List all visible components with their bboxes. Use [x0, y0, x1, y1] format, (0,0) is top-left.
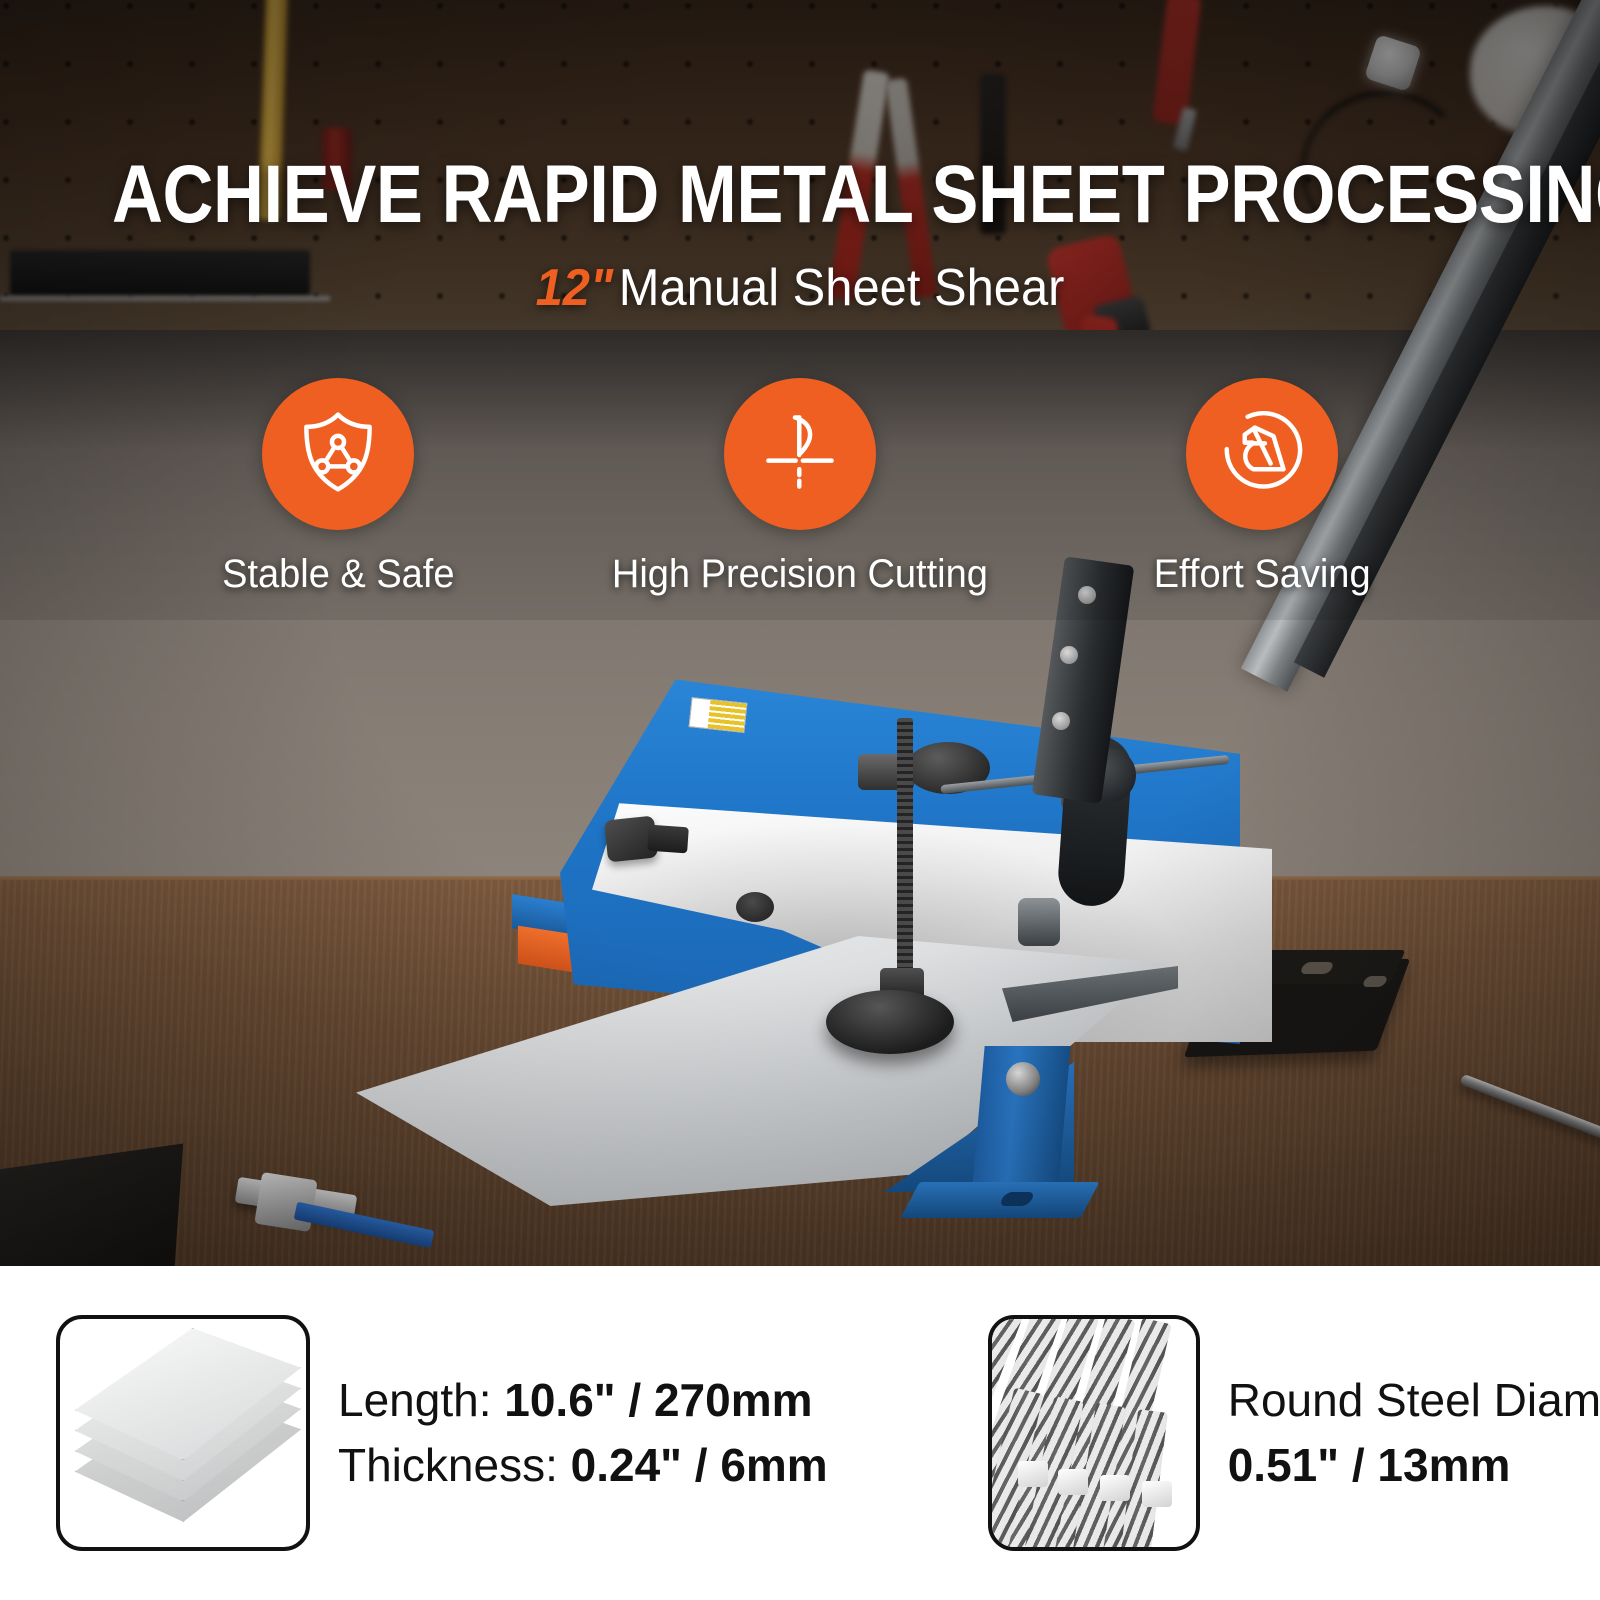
spec-group-sheet: Length: 10.6" / 270mm Thickness: 0.24" /… — [56, 1315, 828, 1551]
spec-value-length: 10.6" / 270mm — [504, 1374, 812, 1426]
rebar-tip-4 — [1142, 1481, 1172, 1507]
page-headline: ACHIEVE RAPID METAL SHEET PROCESSING — [112, 148, 1488, 242]
spec-label-thickness: Thickness: — [338, 1439, 558, 1491]
rebar-tip-3 — [1100, 1475, 1130, 1501]
feature-label-3: Effort Saving — [1154, 552, 1371, 597]
rebar-tip-1 — [1018, 1461, 1048, 1487]
page-subtitle: 12"Manual Sheet Shear — [48, 258, 1552, 318]
feature-icon-circle-1 — [262, 378, 414, 530]
product-marketing-poster: ACHIEVE RAPID METAL SHEET PROCESSING 12"… — [0, 0, 1600, 1600]
feature-badges-row: Stable & Safe High Pr — [0, 378, 1600, 597]
shield-stability-icon — [292, 406, 384, 503]
rebar-art — [992, 1319, 1196, 1547]
spec-line-diameter-label: Round Steel Diameter: — [1228, 1368, 1600, 1433]
spec-group-round-steel: Round Steel Diameter: 0.51" / 13mm — [988, 1315, 1600, 1551]
feature-effort-saving: Effort Saving — [1102, 378, 1422, 597]
feature-icon-circle-2 — [724, 378, 876, 530]
feature-stable-safe: Stable & Safe — [178, 378, 498, 597]
spec-panel: Length: 10.6" / 270mm Thickness: 0.24" /… — [0, 1266, 1600, 1600]
feature-label-1: Stable & Safe — [222, 552, 454, 597]
feature-precision-cutting: High Precision Cutting — [640, 378, 960, 597]
spec-line-diameter-value: 0.51" / 13mm — [1228, 1433, 1600, 1498]
flexed-arm-effort-saving-icon — [1216, 406, 1308, 503]
subtitle-product-name: Manual Sheet Shear — [619, 259, 1065, 317]
feature-icon-circle-3 — [1186, 378, 1338, 530]
spec-text-sheet: Length: 10.6" / 270mm Thickness: 0.24" /… — [338, 1368, 828, 1499]
rebar-round-steel-image — [988, 1315, 1200, 1551]
rebar-tip-2 — [1058, 1469, 1088, 1495]
spec-line-thickness: Thickness: 0.24" / 6mm — [338, 1433, 828, 1498]
spec-line-length: Length: 10.6" / 270mm — [338, 1368, 828, 1433]
hero-photo: ACHIEVE RAPID METAL SHEET PROCESSING 12"… — [0, 0, 1600, 1266]
spec-label-diameter: Round Steel Diameter: — [1228, 1374, 1600, 1426]
stacked-metal-sheets-image — [56, 1315, 310, 1551]
precision-blade-cut-icon — [754, 406, 846, 503]
sheet-stack-art — [60, 1319, 306, 1547]
subtitle-size-value: 12" — [536, 259, 614, 317]
feature-label-2: High Precision Cutting — [612, 552, 988, 597]
spec-value-thickness: 0.24" / 6mm — [571, 1439, 828, 1491]
spec-label-length: Length: — [338, 1374, 491, 1426]
spec-value-diameter: 0.51" / 13mm — [1228, 1439, 1511, 1491]
spec-text-round-steel: Round Steel Diameter: 0.51" / 13mm — [1228, 1368, 1600, 1499]
